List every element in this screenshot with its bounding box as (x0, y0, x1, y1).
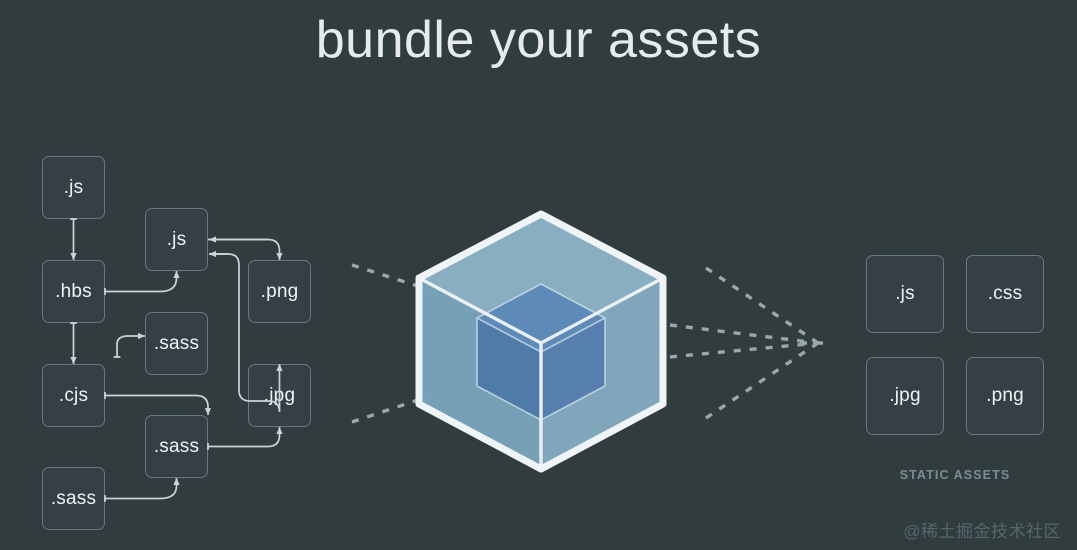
dependency-node-jpg-1[interactable]: .jpg (248, 364, 311, 427)
dependency-node-sass-3[interactable]: .sass (145, 415, 208, 478)
dependency-node-cjs[interactable]: .cjs (42, 364, 105, 427)
page-title: bundle your assets (0, 14, 1077, 66)
dependency-node-png-1[interactable]: .png (248, 260, 311, 323)
static-asset-out-png[interactable]: .png (966, 357, 1044, 435)
dependency-node-js-2[interactable]: .js (145, 208, 208, 271)
dependency-node-hbs[interactable]: .hbs (42, 260, 105, 323)
slide-canvas: bundle your assets .js.hbs.cjs.sass.js.s… (0, 0, 1077, 550)
static-asset-out-css[interactable]: .css (966, 255, 1044, 333)
dependency-node-sass-2[interactable]: .sass (145, 312, 208, 375)
static-assets-caption: STATIC ASSETS (866, 468, 1044, 482)
watermark: @稀土掘金技术社区 (903, 517, 1061, 542)
dependency-node-sass-1[interactable]: .sass (42, 467, 105, 530)
static-asset-out-js[interactable]: .js (866, 255, 944, 333)
dependency-node-js-1[interactable]: .js (42, 156, 105, 219)
static-asset-out-jpg[interactable]: .jpg (866, 357, 944, 435)
